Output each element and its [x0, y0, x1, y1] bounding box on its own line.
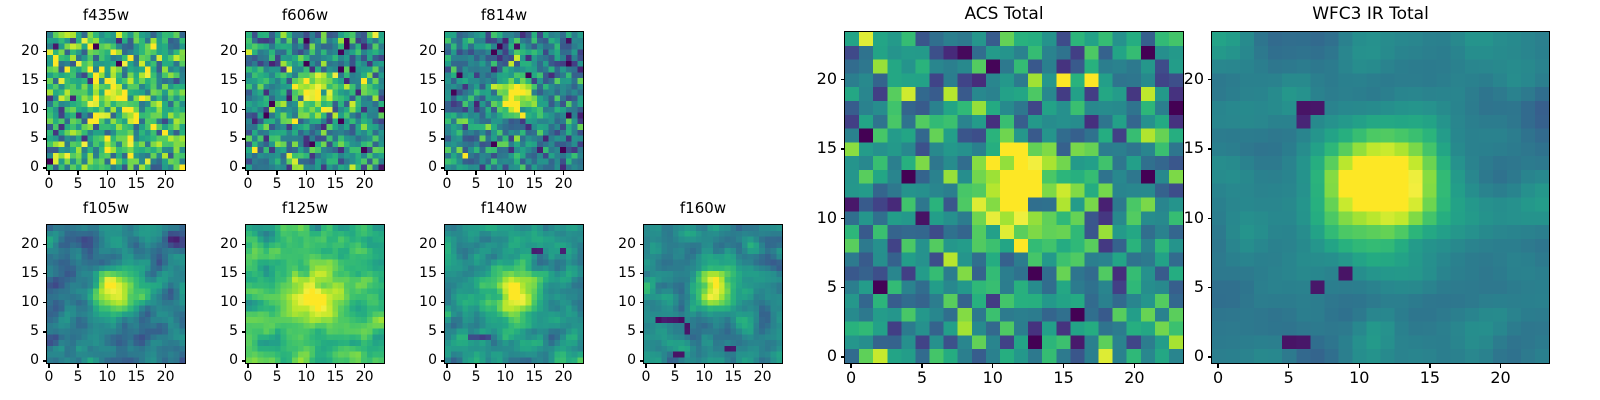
ytick-mark-f435w-5 [43, 138, 47, 139]
xtick-mark-f140w-15 [534, 364, 535, 368]
panel-title-wfc3_ir_total: WFC3 IR Total [1201, 4, 1540, 24]
ytick-mark-f105w-0 [43, 360, 47, 361]
ytick-mark-f140w-10 [441, 302, 445, 303]
xtick-mark-f435w-10 [107, 171, 108, 175]
ytick-mark-f160w-15 [640, 273, 644, 274]
ytick-mark-f125w-15 [242, 273, 246, 274]
ytick-label-f606w-5: 5 [197, 131, 238, 145]
ytick-label-f435w-0: 0 [0, 160, 39, 174]
heatmap-canvas-f105w [47, 225, 185, 363]
xtick-label-acs_total-15: 15 [1044, 370, 1084, 386]
ytick-label-f814w-0: 0 [396, 160, 437, 174]
ytick-mark-acs_total-20 [841, 79, 845, 80]
xtick-label-acs_total-10: 10 [973, 370, 1013, 386]
xtick-mark-f160w-20 [762, 364, 763, 368]
ytick-label-f435w-15: 15 [0, 73, 39, 87]
xtick-label-wfc3_ir_total-20: 20 [1481, 370, 1521, 386]
image-axes-acs_total [844, 31, 1184, 364]
ytick-mark-f814w-0 [441, 167, 445, 168]
image-axes-f435w [46, 31, 186, 171]
panel-title-f435w: f435w [36, 6, 176, 24]
xtick-label-f814w-20: 20 [544, 177, 584, 191]
ytick-label-acs_total-0: 0 [796, 348, 837, 364]
xtick-mark-f160w-10 [704, 364, 705, 368]
ytick-mark-f140w-15 [441, 273, 445, 274]
ytick-label-f814w-15: 15 [396, 73, 437, 87]
ytick-label-f160w-5: 5 [595, 324, 636, 338]
heatmap-canvas-wfc3_ir_total [1212, 32, 1549, 363]
ytick-mark-f606w-15 [242, 80, 246, 81]
ytick-label-f435w-20: 20 [0, 44, 39, 58]
panel-title-f606w: f606w [235, 6, 375, 24]
panel-title-acs_total: ACS Total [834, 4, 1174, 24]
xtick-label-wfc3_ir_total-0: 0 [1198, 370, 1238, 386]
xtick-mark-f105w-10 [107, 364, 108, 368]
ytick-mark-f606w-0 [242, 167, 246, 168]
ytick-mark-f814w-5 [441, 138, 445, 139]
ytick-label-f160w-10: 10 [595, 295, 636, 309]
ytick-mark-f125w-20 [242, 244, 246, 245]
ytick-label-acs_total-15: 15 [796, 140, 837, 156]
image-axes-wfc3_ir_total [1211, 31, 1550, 364]
ytick-mark-f435w-0 [43, 167, 47, 168]
xtick-mark-f125w-10 [306, 364, 307, 368]
xtick-mark-f160w-5 [674, 364, 675, 368]
ytick-mark-f140w-20 [441, 244, 445, 245]
ytick-label-f606w-0: 0 [197, 160, 238, 174]
xtick-label-acs_total-20: 20 [1114, 370, 1154, 386]
xtick-mark-f606w-20 [364, 171, 365, 175]
ytick-mark-f125w-10 [242, 302, 246, 303]
ytick-mark-acs_total-5 [841, 287, 845, 288]
ytick-mark-f435w-10 [43, 109, 47, 110]
xtick-mark-f435w-20 [165, 171, 166, 175]
image-axes-f606w [245, 31, 385, 171]
xtick-mark-f105w-5 [77, 364, 78, 368]
heatmap-canvas-f814w [445, 32, 583, 170]
ytick-mark-wfc3_ir_total-0 [1208, 356, 1212, 357]
ytick-label-acs_total-20: 20 [796, 71, 837, 87]
xtick-mark-acs_total-5 [921, 364, 922, 368]
image-axes-f814w [444, 31, 584, 171]
ytick-mark-f606w-5 [242, 138, 246, 139]
ytick-label-f814w-20: 20 [396, 44, 437, 58]
ytick-label-f814w-5: 5 [396, 131, 437, 145]
ytick-mark-f606w-20 [242, 51, 246, 52]
ytick-mark-wfc3_ir_total-20 [1208, 79, 1212, 80]
xtick-mark-f160w-0 [645, 364, 646, 368]
heatmap-canvas-f125w [246, 225, 384, 363]
heatmap-canvas-f606w [246, 32, 384, 170]
xtick-mark-f606w-10 [306, 171, 307, 175]
xtick-mark-f606w-0 [247, 171, 248, 175]
ytick-label-f125w-5: 5 [197, 324, 238, 338]
ytick-label-acs_total-5: 5 [796, 279, 837, 295]
ytick-label-f160w-20: 20 [595, 237, 636, 251]
xtick-mark-f814w-15 [534, 171, 535, 175]
xtick-mark-f140w-5 [475, 364, 476, 368]
ytick-mark-wfc3_ir_total-5 [1208, 287, 1212, 288]
xtick-mark-f140w-20 [563, 364, 564, 368]
xtick-label-wfc3_ir_total-10: 10 [1339, 370, 1379, 386]
heatmap-canvas-f435w [47, 32, 185, 170]
ytick-label-f140w-5: 5 [396, 324, 437, 338]
ytick-label-f140w-10: 10 [396, 295, 437, 309]
hst-cutout-figure: f435w0510152005101520f606w05101520051015… [0, 0, 1600, 400]
xtick-mark-acs_total-10 [992, 364, 993, 368]
xtick-label-f105w-20: 20 [146, 370, 186, 384]
ytick-label-f125w-20: 20 [197, 237, 238, 251]
xtick-mark-acs_total-0 [850, 364, 851, 368]
ytick-mark-f160w-5 [640, 331, 644, 332]
xtick-label-f140w-20: 20 [544, 370, 584, 384]
ytick-label-f160w-15: 15 [595, 266, 636, 280]
ytick-mark-f140w-0 [441, 360, 445, 361]
ytick-label-f105w-5: 5 [0, 324, 39, 338]
xtick-mark-f435w-5 [77, 171, 78, 175]
ytick-label-f814w-10: 10 [396, 102, 437, 116]
ytick-label-f606w-20: 20 [197, 44, 238, 58]
ytick-mark-acs_total-10 [841, 218, 845, 219]
xtick-mark-acs_total-15 [1063, 364, 1064, 368]
ytick-label-f105w-10: 10 [0, 295, 39, 309]
xtick-label-acs_total-0: 0 [831, 370, 871, 386]
ytick-label-f606w-10: 10 [197, 102, 238, 116]
xtick-mark-f160w-15 [733, 364, 734, 368]
xtick-mark-f125w-20 [364, 364, 365, 368]
ytick-mark-f105w-15 [43, 273, 47, 274]
xtick-mark-acs_total-20 [1134, 364, 1135, 368]
xtick-label-wfc3_ir_total-15: 15 [1410, 370, 1450, 386]
ytick-label-f125w-15: 15 [197, 266, 238, 280]
image-axes-f105w [46, 224, 186, 364]
ytick-label-f140w-0: 0 [396, 353, 437, 367]
xtick-mark-f814w-10 [505, 171, 506, 175]
xtick-mark-f606w-5 [276, 171, 277, 175]
xtick-mark-f435w-15 [136, 171, 137, 175]
xtick-mark-f105w-15 [136, 364, 137, 368]
xtick-label-acs_total-5: 5 [902, 370, 942, 386]
ytick-mark-f814w-10 [441, 109, 445, 110]
ytick-label-f125w-0: 0 [197, 353, 238, 367]
xtick-mark-f606w-15 [335, 171, 336, 175]
ytick-label-acs_total-10: 10 [796, 210, 837, 226]
ytick-mark-acs_total-0 [841, 356, 845, 357]
heatmap-canvas-f140w [445, 225, 583, 363]
image-axes-f125w [245, 224, 385, 364]
ytick-mark-f125w-5 [242, 331, 246, 332]
xtick-mark-f814w-0 [446, 171, 447, 175]
ytick-mark-f606w-10 [242, 109, 246, 110]
xtick-label-wfc3_ir_total-5: 5 [1269, 370, 1309, 386]
ytick-mark-f814w-15 [441, 80, 445, 81]
xtick-mark-f125w-0 [247, 364, 248, 368]
ytick-label-f606w-15: 15 [197, 73, 238, 87]
xtick-mark-wfc3_ir_total-0 [1217, 364, 1218, 368]
ytick-label-f105w-0: 0 [0, 353, 39, 367]
ytick-label-f435w-5: 5 [0, 131, 39, 145]
xtick-mark-f814w-20 [563, 171, 564, 175]
xtick-mark-wfc3_ir_total-15 [1429, 364, 1430, 368]
panel-title-f105w: f105w [36, 199, 176, 217]
ytick-mark-f105w-20 [43, 244, 47, 245]
xtick-mark-f140w-10 [505, 364, 506, 368]
ytick-mark-f160w-10 [640, 302, 644, 303]
ytick-mark-f105w-5 [43, 331, 47, 332]
ytick-label-wfc3_ir_total-5: 5 [1163, 279, 1204, 295]
xtick-mark-f125w-5 [276, 364, 277, 368]
ytick-mark-f435w-20 [43, 51, 47, 52]
ytick-label-wfc3_ir_total-10: 10 [1163, 210, 1204, 226]
ytick-mark-f160w-20 [640, 244, 644, 245]
xtick-label-f160w-20: 20 [743, 370, 783, 384]
xtick-label-f606w-20: 20 [345, 177, 385, 191]
ytick-mark-wfc3_ir_total-10 [1208, 218, 1212, 219]
xtick-label-f125w-20: 20 [345, 370, 385, 384]
xtick-mark-f105w-20 [165, 364, 166, 368]
xtick-label-f435w-20: 20 [146, 177, 186, 191]
ytick-label-wfc3_ir_total-20: 20 [1163, 71, 1204, 87]
ytick-label-f160w-0: 0 [595, 353, 636, 367]
panel-title-f125w: f125w [235, 199, 375, 217]
xtick-mark-f140w-0 [446, 364, 447, 368]
ytick-mark-f814w-20 [441, 51, 445, 52]
xtick-mark-f105w-0 [48, 364, 49, 368]
ytick-label-f140w-20: 20 [396, 237, 437, 251]
image-axes-f160w [643, 224, 783, 364]
ytick-label-f125w-10: 10 [197, 295, 238, 309]
heatmap-canvas-acs_total [845, 32, 1183, 363]
panel-title-f160w: f160w [633, 199, 773, 217]
ytick-mark-f140w-5 [441, 331, 445, 332]
ytick-mark-f105w-10 [43, 302, 47, 303]
panel-title-f814w: f814w [434, 6, 574, 24]
ytick-mark-wfc3_ir_total-15 [1208, 148, 1212, 149]
image-axes-f140w [444, 224, 584, 364]
ytick-label-wfc3_ir_total-15: 15 [1163, 140, 1204, 156]
xtick-mark-f435w-0 [48, 171, 49, 175]
xtick-mark-f814w-5 [475, 171, 476, 175]
xtick-mark-wfc3_ir_total-20 [1500, 364, 1501, 368]
ytick-mark-acs_total-15 [841, 148, 845, 149]
ytick-label-wfc3_ir_total-0: 0 [1163, 348, 1204, 364]
heatmap-canvas-f160w [644, 225, 782, 363]
ytick-mark-f435w-15 [43, 80, 47, 81]
ytick-label-f105w-20: 20 [0, 237, 39, 251]
ytick-mark-f125w-0 [242, 360, 246, 361]
xtick-mark-f125w-15 [335, 364, 336, 368]
panel-title-f140w: f140w [434, 199, 574, 217]
ytick-label-f140w-15: 15 [396, 266, 437, 280]
xtick-mark-wfc3_ir_total-5 [1288, 364, 1289, 368]
ytick-mark-f160w-0 [640, 360, 644, 361]
ytick-label-f105w-15: 15 [0, 266, 39, 280]
xtick-mark-wfc3_ir_total-10 [1359, 364, 1360, 368]
ytick-label-f435w-10: 10 [0, 102, 39, 116]
